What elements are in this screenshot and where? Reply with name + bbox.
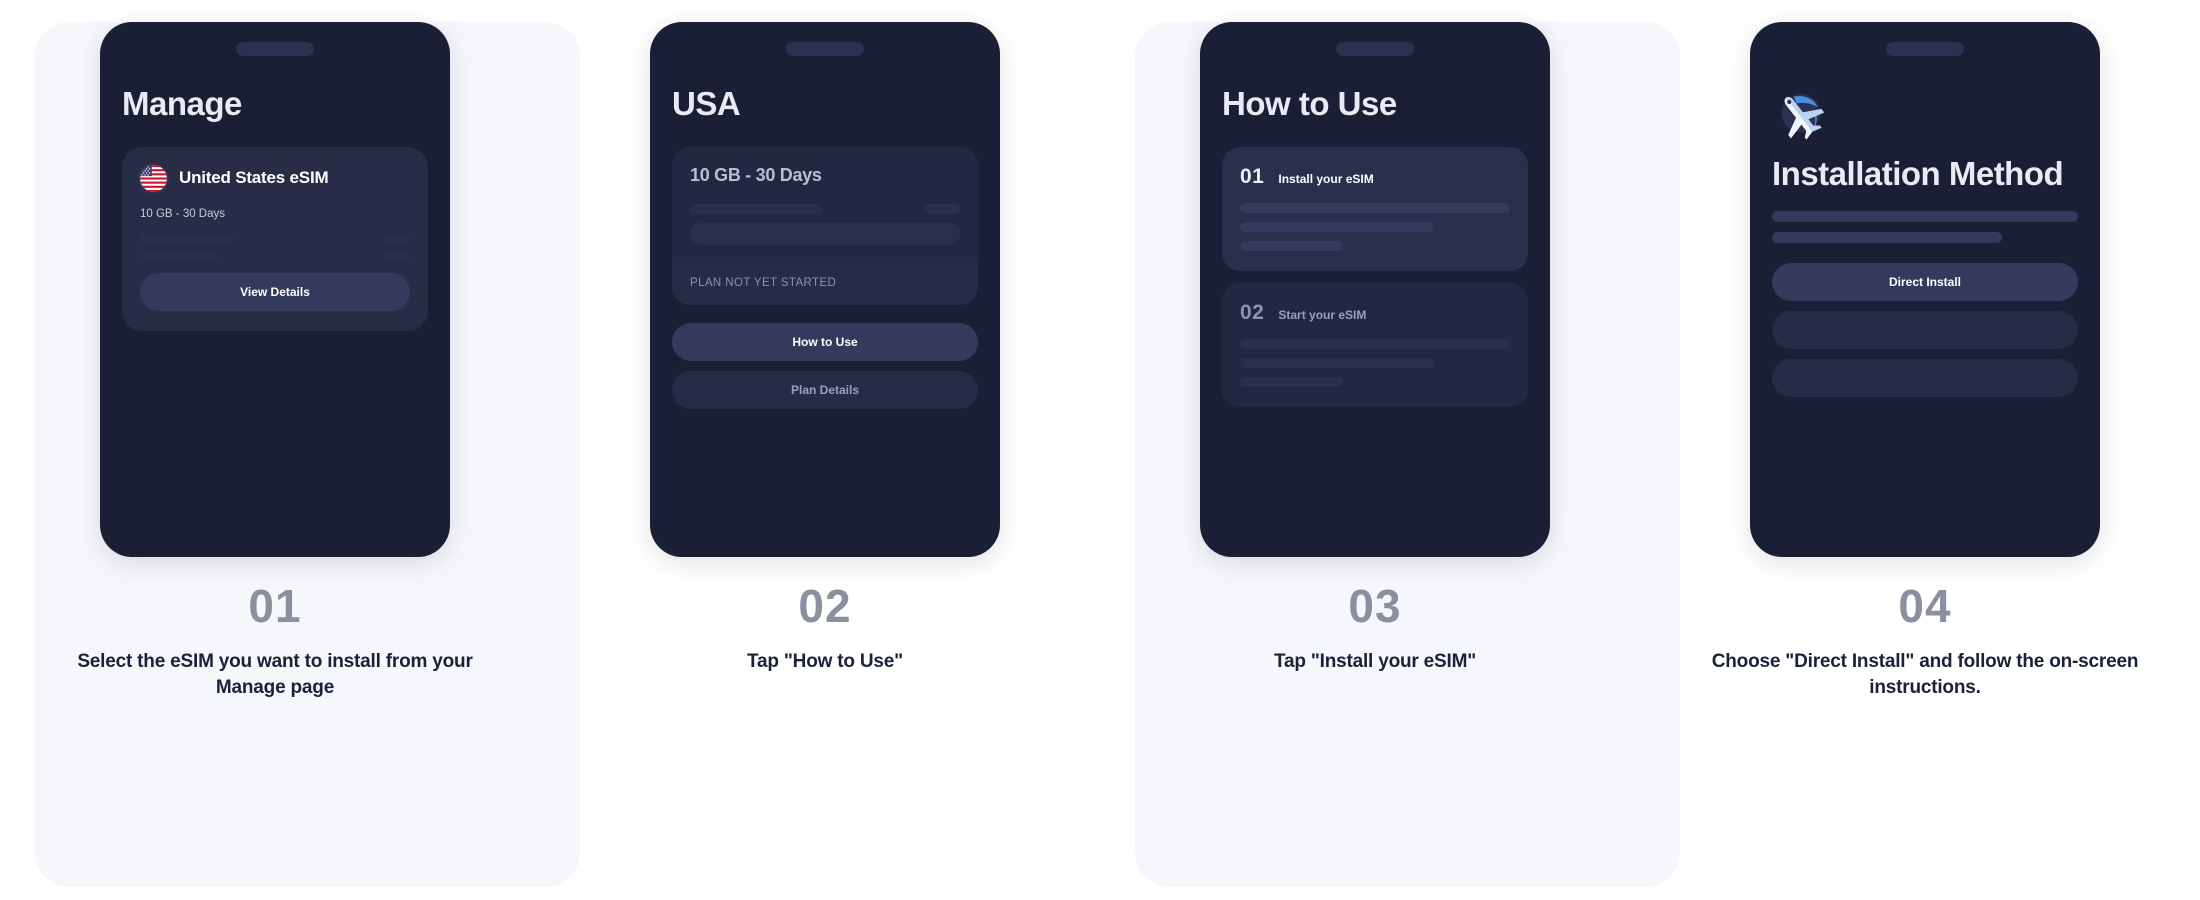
skeleton-pill (924, 204, 960, 214)
skeleton-bar (1240, 241, 1343, 251)
phone-mockup-how-to-use: How to Use 01 Install your eSIM 02 Start… (1200, 22, 1550, 557)
step-caption-text: Select the eSIM you want to install from… (60, 649, 490, 701)
phone-mockup-usa: USA 10 GB - 30 Days PLAN NOT YET STARTED… (650, 22, 1000, 557)
install-option-button-2[interactable] (1772, 311, 2078, 349)
step-number: 03 (1160, 583, 1590, 629)
plan-title: 10 GB - 30 Days (690, 165, 960, 186)
step-02: USA 10 GB - 30 Days PLAN NOT YET STARTED… (550, 0, 1100, 900)
esim-card-header: United States eSIM (140, 165, 410, 192)
step-04: Installation Method Direct Install 04 Ch… (1650, 0, 2200, 900)
direct-install-button[interactable]: Direct Install (1772, 263, 2078, 301)
screen-title-usa: USA (672, 86, 978, 123)
skeleton-bar (690, 204, 822, 214)
skeleton-pill (383, 234, 410, 243)
esim-plan-summary: 10 GB - 30 Days (140, 208, 410, 220)
phone-notch-icon (1336, 42, 1414, 56)
screen-title-manage: Manage (122, 86, 428, 123)
howto-step-header: 02 Start your eSIM (1240, 301, 1510, 325)
plan-skeleton-row-1 (690, 204, 960, 214)
skeleton-bar (1240, 377, 1343, 387)
step-03-caption: 03 Tap "Install your eSIM" (1160, 583, 1590, 675)
step-caption-text: Tap "Install your eSIM" (1160, 649, 1590, 675)
plan-status-container: PLAN NOT YET STARTED (672, 263, 978, 305)
step-number: 01 (60, 583, 490, 629)
step-02-caption: 02 Tap "How to Use" (610, 583, 1040, 675)
skeleton-bar (1240, 358, 1434, 368)
phone-mockup-installation-method: Installation Method Direct Install (1750, 22, 2100, 557)
skeleton-bar (1772, 232, 2002, 243)
howto-step-number: 01 (1240, 165, 1264, 189)
skeleton-bar (140, 252, 218, 261)
esim-skeleton-row-2 (140, 252, 410, 261)
airplane-icon (1772, 86, 1828, 142)
skeleton-pill (383, 252, 410, 261)
plan-details-button[interactable]: Plan Details (672, 371, 978, 409)
us-flag-icon (140, 165, 167, 192)
esim-name: United States eSIM (179, 168, 328, 188)
phone-notch-icon (1886, 42, 1964, 56)
steps-container: Manage (0, 0, 2200, 900)
esim-skeleton-row-1 (140, 234, 410, 243)
view-details-button[interactable]: View Details (140, 273, 410, 311)
how-to-use-button[interactable]: How to Use (672, 323, 978, 361)
howto-step-label: Install your eSIM (1278, 172, 1373, 186)
step-01-caption: 01 Select the eSIM you want to install f… (60, 583, 490, 701)
step-number: 02 (610, 583, 1040, 629)
skeleton-bar (1240, 339, 1510, 349)
screen-title-installation-method: Installation Method (1772, 156, 2078, 193)
screen-title-how-to-use: How to Use (1222, 86, 1528, 123)
howto-step-install-your-esim[interactable]: 01 Install your eSIM (1222, 147, 1528, 271)
plan-card[interactable]: 10 GB - 30 Days PLAN NOT YET STARTED (672, 147, 978, 305)
step-caption-text: Tap "How to Use" (610, 649, 1040, 675)
step-number: 04 (1710, 583, 2140, 629)
skeleton-bar (1240, 222, 1434, 232)
howto-step-label: Start your eSIM (1278, 308, 1366, 322)
step-caption-text: Choose "Direct Install" and follow the o… (1710, 649, 2140, 701)
skeleton-bar (1240, 203, 1510, 213)
step-01: Manage (0, 0, 550, 900)
step-03: How to Use 01 Install your eSIM 02 Start… (1100, 0, 1650, 900)
howto-step-start-your-esim[interactable]: 02 Start your eSIM (1222, 283, 1528, 407)
install-option-button-3[interactable] (1772, 359, 2078, 397)
skeleton-bar (1772, 211, 2078, 222)
skeleton-block (690, 223, 960, 245)
phone-notch-icon (786, 42, 864, 56)
phone-mockup-manage: Manage (100, 22, 450, 557)
howto-step-header: 01 Install your eSIM (1240, 165, 1510, 189)
step-04-caption: 04 Choose "Direct Install" and follow th… (1710, 583, 2140, 701)
howto-step-number: 02 (1240, 301, 1264, 325)
phone-notch-icon (236, 42, 314, 56)
plan-status-badge: PLAN NOT YET STARTED (690, 277, 960, 289)
esim-card[interactable]: United States eSIM 10 GB - 30 Days View … (122, 147, 428, 331)
skeleton-bar (140, 234, 235, 243)
